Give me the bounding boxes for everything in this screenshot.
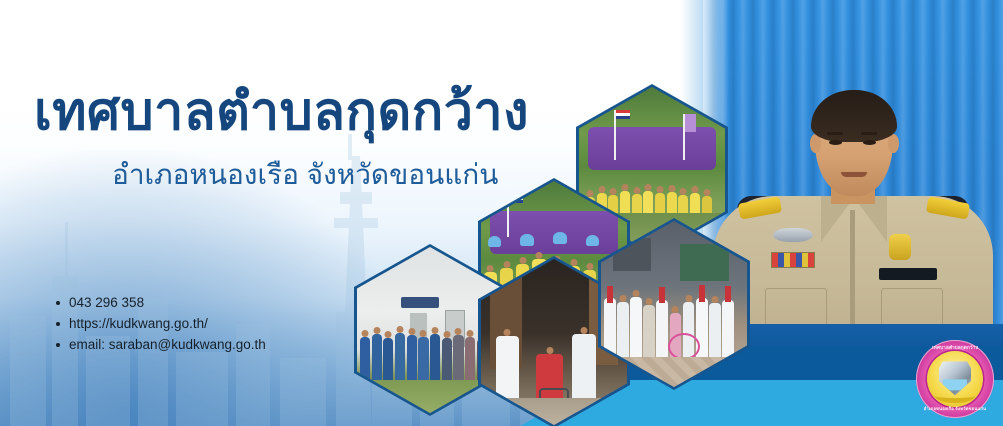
contact-phone[interactable]: 043 296 358 — [56, 292, 266, 313]
seal-sheaf-icon — [935, 389, 975, 403]
contact-email-value: email: saraban@kudkwang.go.th — [69, 334, 266, 355]
municipality-banner: เทศบาลตำบลกุดกว้าง อำเภอหนองเรือ จังหวัด… — [0, 0, 1003, 426]
seal-bottom-text: อำเภอหนองเรือ จังหวัดขอนแก่น — [916, 405, 994, 412]
contact-website[interactable]: https://kudkwang.go.th/ — [56, 313, 266, 334]
bullet-icon — [56, 322, 60, 326]
contact-list: 043 296 358 https://kudkwang.go.th/ emai… — [56, 292, 266, 355]
hexagon-photo-collage — [0, 0, 1003, 426]
contact-email[interactable]: email: saraban@kudkwang.go.th — [56, 334, 266, 355]
page-title: เทศบาลตำบลกุดกว้าง — [34, 86, 529, 138]
municipal-seal-logo[interactable]: เทศบาลตำบลกุดกว้าง อำเภอหนองเรือ จังหวัด… — [916, 340, 994, 418]
contact-phone-value: 043 296 358 — [69, 292, 144, 313]
contact-website-value: https://kudkwang.go.th/ — [69, 313, 208, 334]
page-subtitle: อำเภอหนองเรือ จังหวัดขอนแก่น — [112, 158, 498, 192]
bullet-icon — [56, 301, 60, 305]
bullet-icon — [56, 343, 60, 347]
